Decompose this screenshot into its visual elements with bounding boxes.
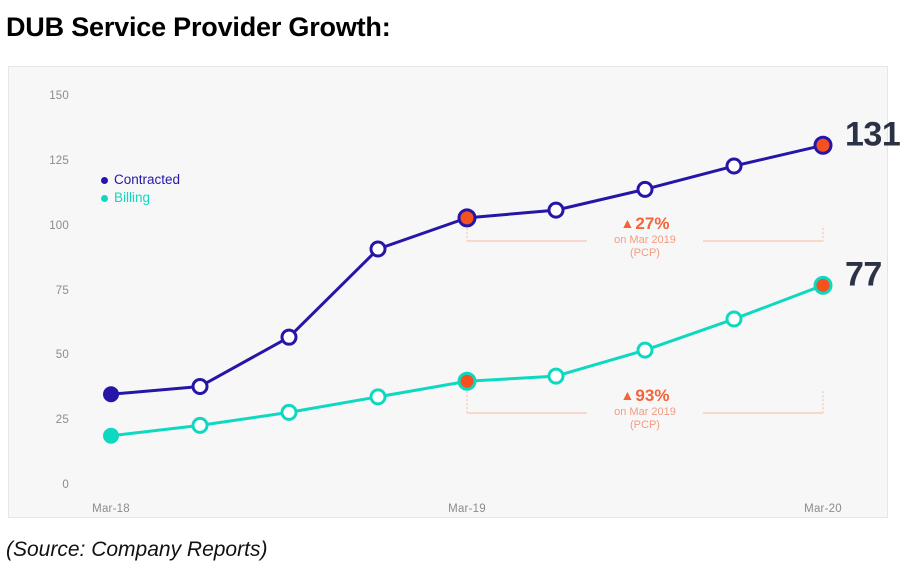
legend-item-billing[interactable]: Billing — [101, 189, 180, 207]
data-point[interactable] — [282, 405, 296, 419]
legend-item-label: Billing — [114, 189, 150, 207]
triangle-up-icon: ▲ — [621, 387, 635, 403]
chart-card: 0255075100125150 Mar-18Mar-19Mar-20 Cont… — [8, 66, 888, 518]
annotation-subtext-line2: (PCP) — [614, 419, 676, 433]
annotation-percent: 93% — [635, 386, 669, 405]
data-point-filled[interactable] — [104, 429, 118, 443]
legend-dot-icon — [101, 177, 108, 184]
triangle-up-icon: ▲ — [621, 215, 635, 231]
data-point-highlighted[interactable] — [815, 277, 831, 293]
annotation-subtext-line1: on Mar 2019 — [614, 406, 676, 420]
legend-item-contracted[interactable]: Contracted — [101, 171, 180, 189]
annotation-contracted-growth: ▲27%on Mar 2019(PCP) — [614, 215, 676, 261]
annotation-percent-row: ▲27% — [614, 215, 676, 234]
data-point[interactable] — [727, 312, 741, 326]
end-value-billing: 77 — [845, 256, 882, 295]
series-line — [111, 145, 823, 394]
annotation-subtext-line1: on Mar 2019 — [614, 234, 676, 248]
data-point-filled[interactable] — [104, 387, 118, 401]
data-point[interactable] — [638, 182, 652, 196]
data-point[interactable] — [282, 330, 296, 344]
data-point[interactable] — [638, 343, 652, 357]
end-value-contracted: 131 — [845, 116, 900, 155]
data-point[interactable] — [549, 203, 563, 217]
data-point[interactable] — [371, 242, 385, 256]
annotation-percent: 27% — [635, 214, 669, 233]
data-point[interactable] — [371, 390, 385, 404]
chart-plot-area — [9, 67, 889, 519]
legend-dot-icon — [101, 195, 108, 202]
data-point-highlighted[interactable] — [459, 373, 475, 389]
annotation-subtext-line2: (PCP) — [614, 247, 676, 261]
legend-item-label: Contracted — [114, 171, 180, 189]
data-point[interactable] — [193, 418, 207, 432]
annotation-percent-row: ▲93% — [614, 387, 676, 406]
source-note: (Source: Company Reports) — [6, 538, 267, 562]
data-point[interactable] — [549, 369, 563, 383]
data-point[interactable] — [193, 379, 207, 393]
annotation-billing-growth: ▲93%on Mar 2019(PCP) — [614, 387, 676, 433]
series-contracted — [104, 137, 831, 401]
data-point-highlighted[interactable] — [815, 137, 831, 153]
series-billing — [104, 277, 831, 442]
page-title: DUB Service Provider Growth: — [6, 12, 391, 43]
data-point-highlighted[interactable] — [459, 210, 475, 226]
chart-legend: ContractedBilling — [101, 171, 180, 207]
data-point[interactable] — [727, 159, 741, 173]
